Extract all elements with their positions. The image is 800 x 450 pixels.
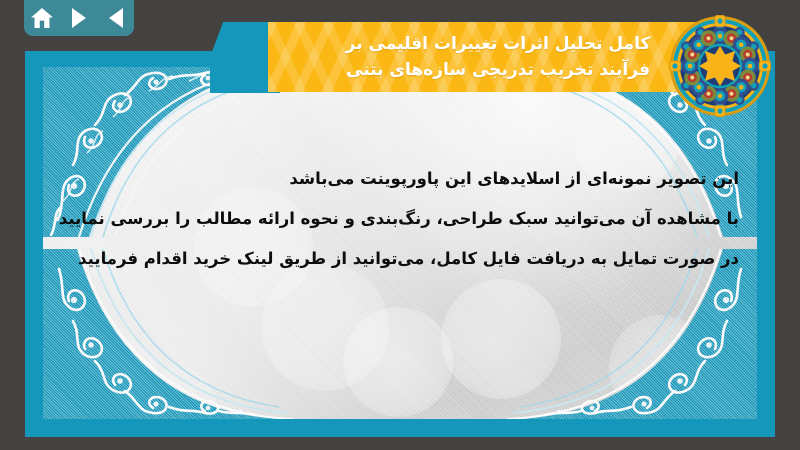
page-title: کامل تحلیل اثرات تغییرات اقلیمی بر فرآین… (268, 31, 728, 84)
slide-content-surface: این تصویر نمونه‌ای از اسلایدهای این پاور… (43, 67, 757, 419)
bokeh-circle (669, 363, 757, 419)
bokeh-circle (67, 335, 159, 419)
bokeh-circle (609, 315, 713, 419)
home-icon (30, 7, 54, 29)
persian-medallion-ornament-icon (668, 14, 772, 118)
slide-viewer: این تصویر نمونه‌ای از اسلایدهای این پاور… (0, 0, 800, 450)
bokeh-circle (343, 307, 453, 417)
slide-navigation-bar (24, 0, 134, 36)
body-line: با مشاهده آن می‌توانید سبک طراحی، رنگ‌بن… (103, 199, 739, 239)
home-button[interactable] (29, 5, 55, 31)
previous-slide-button[interactable] (103, 5, 129, 31)
bokeh-circle (261, 263, 389, 391)
bokeh-circle (139, 367, 217, 419)
body-line: این تصویر نمونه‌ای از اسلایدهای این پاور… (103, 159, 739, 199)
body-line: در صورت تمایل به دریافت فایل کامل، می‌تو… (103, 239, 739, 279)
slide-body-text: این تصویر نمونه‌ای از اسلایدهای این پاور… (103, 159, 739, 279)
title-line-2: فرآیند تخریب تدریجی سازه‌های بتنی (282, 57, 714, 83)
bokeh-circle (441, 279, 561, 399)
triangle-right-icon (72, 8, 86, 28)
triangle-left-icon (109, 8, 123, 28)
slide-title-banner: کامل تحلیل اثرات تغییرات اقلیمی بر فرآین… (268, 22, 728, 92)
next-slide-button[interactable] (66, 5, 92, 31)
slide-frame: این تصویر نمونه‌ای از اسلایدهای این پاور… (25, 51, 775, 437)
title-line-1: کامل تحلیل اثرات تغییرات اقلیمی بر (282, 31, 714, 57)
